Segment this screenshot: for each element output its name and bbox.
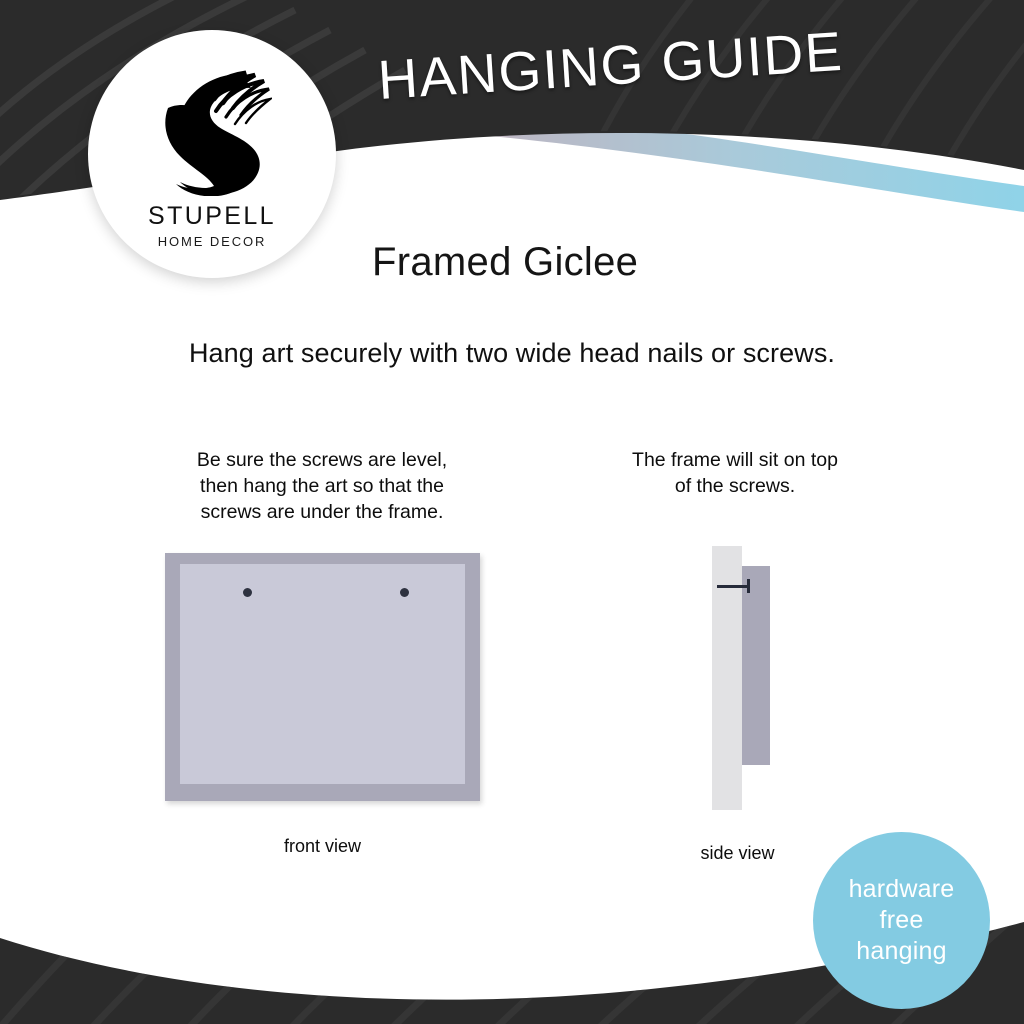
caption-line: screws are under the frame. (163, 499, 481, 525)
nail-shaft (717, 585, 749, 588)
stupell-s-swoosh-icon (152, 68, 272, 196)
nail-head (747, 579, 750, 593)
caption-line: Be sure the screws are level, (163, 447, 481, 473)
front-view-label: front view (165, 836, 480, 857)
logo-subwordmark: HOME DECOR (158, 234, 267, 249)
nail-icon (717, 584, 751, 588)
badge-line: hardware (849, 874, 955, 905)
caption-line: then hang the art so that the (163, 473, 481, 499)
front-view-frame-interior (180, 564, 465, 784)
front-view-caption: Be sure the screws are level, then hang … (163, 447, 481, 525)
side-view-label: side view (650, 843, 825, 864)
hardware-free-hanging-badge: hardware free hanging (813, 832, 990, 1009)
logo-wordmark: STUPELL (148, 202, 276, 231)
hanging-guide-page: HANGING GUIDE STUPELL HOME DECOR Framed … (0, 0, 1024, 1024)
badge-line: free (880, 905, 924, 936)
brand-logo-badge: STUPELL HOME DECOR (88, 30, 336, 278)
main-instruction: Hang art securely with two wide head nai… (0, 338, 1024, 369)
front-view-frame-diagram (165, 553, 480, 801)
caption-line: of the screws. (600, 473, 870, 499)
page-title: HANGING GUIDE (376, 19, 845, 112)
badge-line: hanging (856, 936, 946, 967)
screw-dot-icon (400, 588, 409, 597)
product-title: Framed Giclee (372, 240, 638, 285)
side-view-frame (742, 566, 770, 765)
screw-dot-icon (243, 588, 252, 597)
caption-line: The frame will sit on top (600, 447, 870, 473)
side-view-caption: The frame will sit on top of the screws. (600, 447, 870, 499)
